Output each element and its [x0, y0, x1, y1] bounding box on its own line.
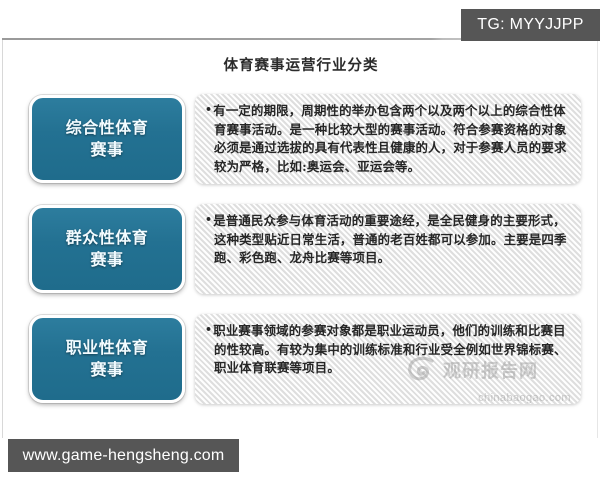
- chip-surface: 综合性体育 赛事: [29, 95, 185, 183]
- category-description: 是普通民众参与体育活动的重要途经，是全民健身的主要形式，这种类型贴近日常生活，普…: [205, 212, 569, 268]
- panel-surface: 职业赛事领域的参赛对象都是职业运动员，他们的训练和比赛目的性较高。有较为集中的训…: [195, 314, 581, 404]
- tg-watermark-badge: TG: MYYJJPP: [461, 9, 600, 41]
- category-description-panel: 有一定的期限，周期性的举办包含两个以及两个以上的综合性体育赛事活动。是一种比较大…: [195, 88, 583, 192]
- slide-area: 体育赛事运营行业分类 综合性体育 赛事 有一定的期限，周期性的举办包含两个以及两…: [2, 40, 598, 438]
- category-description-panel: 是普通民众参与体育活动的重要途经，是全民健身的主要形式，这种类型贴近日常生活，普…: [195, 198, 583, 302]
- category-chip-mass[interactable]: 群众性体育 赛事: [17, 198, 195, 302]
- chip-surface: 群众性体育 赛事: [29, 205, 185, 293]
- category-label: 职业性体育 赛事: [62, 337, 153, 380]
- category-chip-professional[interactable]: 职业性体育 赛事: [17, 308, 195, 412]
- page-title: 体育赛事运营行业分类: [3, 54, 599, 75]
- category-chip-comprehensive[interactable]: 综合性体育 赛事: [17, 88, 195, 192]
- category-description: 职业赛事领域的参赛对象都是职业运动员，他们的训练和比赛目的性较高。有较为集中的训…: [205, 322, 569, 378]
- panel-surface: 有一定的期限，周期性的举办包含两个以及两个以上的综合性体育赛事活动。是一种比较大…: [195, 94, 581, 184]
- watermark-brand-en: chinabaogao.com: [405, 392, 573, 404]
- list-item: 职业性体育 赛事 职业赛事领域的参赛对象都是职业运动员，他们的训练和比赛目的性较…: [17, 308, 583, 412]
- category-description-panel: 职业赛事领域的参赛对象都是职业运动员，他们的训练和比赛目的性较高。有较为集中的训…: [195, 308, 583, 412]
- chip-surface: 职业性体育 赛事: [29, 315, 185, 403]
- panel-surface: 是普通民众参与体育活动的重要途经，是全民健身的主要形式，这种类型贴近日常生活，普…: [195, 204, 581, 294]
- list-item: 综合性体育 赛事 有一定的期限，周期性的举办包含两个以及两个以上的综合性体育赛事…: [17, 88, 583, 192]
- screenshot-canvas: 体育赛事运营行业分类 综合性体育 赛事 有一定的期限，周期性的举办包含两个以及两…: [0, 0, 600, 480]
- category-description: 有一定的期限，周期性的举办包含两个以及两个以上的综合性体育赛事活动。是一种比较大…: [205, 102, 569, 176]
- category-list: 综合性体育 赛事 有一定的期限，周期性的举办包含两个以及两个以上的综合性体育赛事…: [17, 88, 583, 418]
- list-item: 群众性体育 赛事 是普通民众参与体育活动的重要途经，是全民健身的主要形式，这种类…: [17, 198, 583, 302]
- site-url-badge: www.game-hengsheng.com: [8, 439, 239, 472]
- category-label: 群众性体育 赛事: [62, 227, 153, 270]
- category-label: 综合性体育 赛事: [62, 117, 153, 160]
